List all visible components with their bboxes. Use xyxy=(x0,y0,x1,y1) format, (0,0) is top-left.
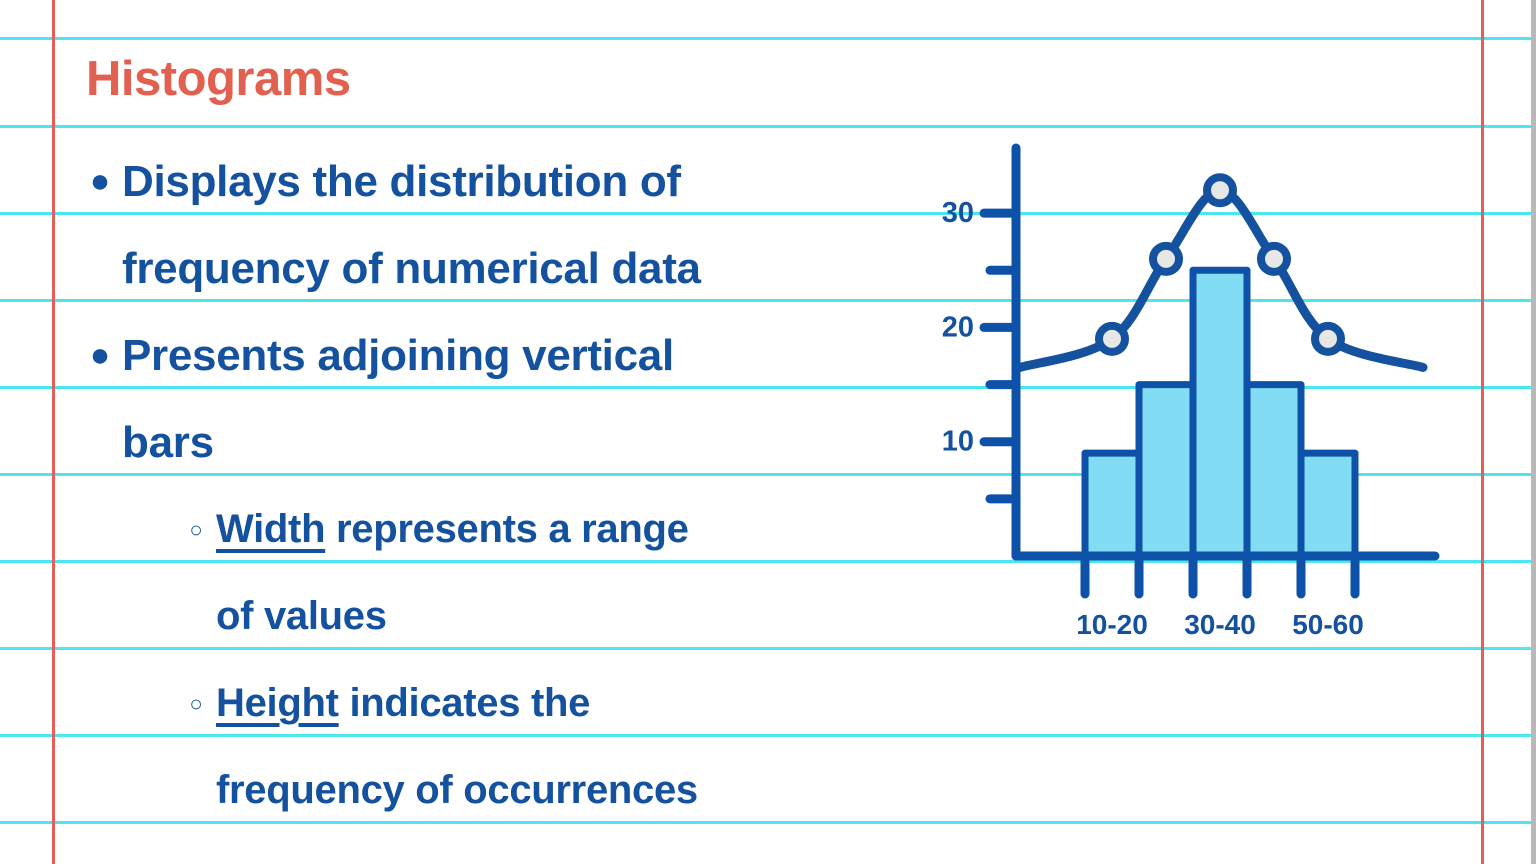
y-tick-label: 20 xyxy=(942,311,974,343)
sub-list-item-continuation: frequency of occurrences xyxy=(176,747,938,834)
histogram-svg: 102030 10-2030-4050-60 xyxy=(930,140,1460,650)
left-margin-line xyxy=(52,0,55,864)
x-tick-label: 30-40 xyxy=(1184,609,1256,640)
sub-list-item-label: frequency of occurrences xyxy=(216,747,698,834)
list-item-label: frequency of numerical data xyxy=(122,225,701,312)
histogram-bar xyxy=(1301,453,1355,556)
histogram-bar xyxy=(1085,453,1139,556)
histogram-bar xyxy=(1139,385,1193,556)
x-tick-labels: 10-2030-4050-60 xyxy=(1076,609,1364,640)
list-item-continuation: frequency of numerical data xyxy=(78,225,938,312)
bullet-dot-icon: ● xyxy=(78,312,122,399)
emphasis-underline: Width xyxy=(216,507,325,551)
bars-group xyxy=(1085,270,1355,556)
y-tick-label: 10 xyxy=(942,426,974,458)
y-tick-label: 30 xyxy=(942,197,974,229)
curve-marker-dot xyxy=(1099,326,1125,352)
bullet-circle-icon: ○ xyxy=(176,660,216,747)
histogram-bar xyxy=(1247,385,1301,556)
slide-canvas: Histograms ● Displays the distribution o… xyxy=(0,0,1536,864)
sub-list-item-label: of values xyxy=(216,573,387,660)
curve-marker-dot xyxy=(1207,177,1233,203)
curve-marker-dot xyxy=(1315,326,1341,352)
sub-list-item-label: Height indicates the xyxy=(216,660,590,747)
right-margin-line xyxy=(1481,0,1484,864)
list-item: ● Displays the distribution of xyxy=(78,138,938,225)
x-tick-label: 50-60 xyxy=(1292,609,1364,640)
list-item-continuation: bars xyxy=(78,399,938,486)
bullet-circle-icon: ○ xyxy=(176,486,216,573)
sub-list-item-rest: represents a range xyxy=(325,507,688,551)
curve-marker-dot xyxy=(1153,246,1179,272)
list-item-label: Displays the distribution of xyxy=(122,138,681,225)
list-item-label: bars xyxy=(122,399,214,486)
page-edge-shadow xyxy=(1531,0,1536,864)
x-tick-label: 10-20 xyxy=(1076,609,1148,640)
sub-list-item-rest: indicates the xyxy=(339,681,590,725)
sub-list-item: ○ Width represents a range xyxy=(176,486,938,573)
curve-marker-dot xyxy=(1261,246,1287,272)
sub-list-item: ○ Height indicates the xyxy=(176,660,938,747)
rule-line xyxy=(0,37,1536,40)
bullet-list: ● Displays the distribution of frequency… xyxy=(78,138,938,834)
page-title: Histograms xyxy=(86,55,351,104)
sub-list-item-continuation: of values xyxy=(176,573,938,660)
sub-list-item-label: Width represents a range xyxy=(216,486,689,573)
histogram-chart: 102030 10-2030-4050-60 xyxy=(930,140,1460,650)
bullet-dot-icon: ● xyxy=(78,138,122,225)
list-item: ● Presents adjoining vertical xyxy=(78,312,938,399)
histogram-bar xyxy=(1193,270,1247,556)
rule-line xyxy=(0,125,1536,128)
y-tick-labels: 102030 xyxy=(942,197,974,458)
emphasis-underline: Height xyxy=(216,681,339,725)
list-item-label: Presents adjoining vertical xyxy=(122,312,674,399)
